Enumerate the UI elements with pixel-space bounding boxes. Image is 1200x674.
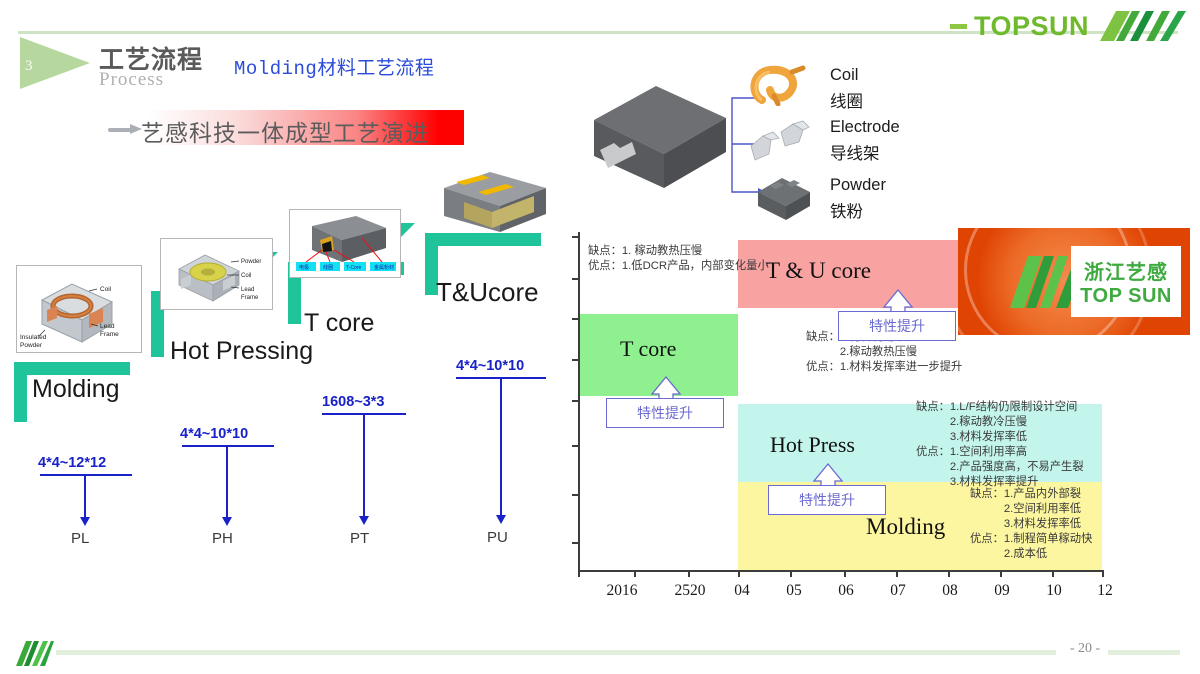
slide-root: 3 工艺流程 Process Molding材料工艺流程 艺感科技一体成型工艺演… (0, 0, 1200, 674)
code-label-ph: PH (212, 530, 233, 547)
thumbnail-t-core: 电极 线圈 T-Core 金属粉材 (289, 209, 401, 278)
chart-block-label-hot-press: Hot Press (770, 432, 855, 458)
arrow-right-icon (108, 124, 142, 134)
size-label-pl: 4*4~12*12 (38, 455, 106, 471)
badge-label-en: TOP SUN (1080, 285, 1172, 308)
svg-text:Lead: Lead (241, 287, 254, 293)
thumbnail-molding: Coil Lead Frame Insulated Powder (16, 265, 142, 353)
chart-note-hot-press: 缺点：1.L/F结构仍限制设计空间 2.稼动教冷压慢 3.材料发挥率低 优点：1… (916, 400, 1084, 489)
chart-xtick-7: 09 (994, 582, 1010, 600)
part-label-electrode-en: Electrode (830, 118, 900, 137)
powder-block-icon (752, 172, 816, 220)
topsun-logo: TOPSUN (950, 9, 1186, 43)
svg-text:电极: 电极 (299, 264, 309, 271)
badge-plate: 浙江艺感 TOP SUN (1071, 246, 1181, 317)
logo-dash-icon (950, 24, 967, 29)
chart-xtick-8: 10 (1046, 582, 1062, 600)
svg-text:Powder: Powder (20, 342, 43, 349)
part-label-powder-en: Powder (830, 176, 886, 195)
part-label-electrode-cn: 导线架 (830, 140, 880, 164)
svg-text:金属粉材: 金属粉材 (374, 264, 394, 271)
svg-text:Frame: Frame (241, 295, 259, 301)
chart-xtick-6: 08 (942, 582, 958, 600)
part-label-powder-cn: 铁粉 (830, 198, 863, 222)
upgrade-callout-2: 特性提升 (606, 398, 724, 428)
logo-text: TOPSUN (974, 11, 1089, 42)
stair-label-3: T core (304, 310, 374, 337)
size-annotation-ph: 4*4~10*10 PH (180, 426, 276, 544)
topsun-badge: 浙江艺感 TOP SUN (958, 228, 1190, 335)
product-render (586, 78, 734, 188)
evolution-banner: 艺感科技一体成型工艺演进 (148, 110, 464, 145)
code-label-pt: PT (350, 530, 369, 547)
chart-xtick-5: 07 (890, 582, 906, 600)
svg-text:Frame: Frame (100, 331, 119, 338)
upgrade-callout-1: 特性提升 (838, 311, 956, 341)
chart-note-top: 缺点：1. 稼动教热压慢 优点：1.低DCR产品，内部变化量小 (588, 244, 769, 274)
size-label-ph: 4*4~10*10 (180, 426, 248, 442)
part-label-coil-en: Coil (830, 66, 858, 85)
chart-note-molding: 缺点：1.产品内外部裂 2.空间利用率低 3.材料发挥率低 优点：1.制程简单稼… (970, 487, 1092, 562)
svg-text:T-Core: T-Core (346, 265, 362, 271)
svg-text:Coil: Coil (100, 286, 112, 293)
footer-logo-icon (14, 638, 54, 668)
size-label-pt: 1608~3*3 (322, 394, 385, 410)
upgrade-callout-3: 特性提升 (768, 485, 886, 515)
chart-xtick-3: 05 (786, 582, 802, 600)
page-number: - 20 - (1062, 641, 1108, 657)
part-label-coil-cn: 线圈 (830, 88, 863, 112)
svg-text:Coil: Coil (241, 273, 251, 279)
svg-text:Powder: Powder (241, 259, 261, 265)
page-subtitle: Molding材料工艺流程 (234, 53, 434, 80)
chart-x-axis (578, 570, 1102, 572)
thumbnail-hot-pressing: Powder Coil Lead Frame (160, 238, 273, 310)
chart-xtick-2: 04 (734, 582, 750, 600)
chart-xtick-9: 12 (1097, 582, 1113, 600)
size-annotation-pu: 4*4~10*10 PU (456, 358, 548, 544)
svg-text:Lead: Lead (100, 323, 115, 330)
electrode-icon (745, 118, 815, 164)
thumbnail-tu-core (434, 166, 554, 238)
size-annotation-pt: 1608~3*3 PT (322, 394, 406, 544)
footer-rule-right (1108, 650, 1180, 655)
size-annotation-pl: 4*4~12*12 PL (38, 455, 134, 545)
page-title-en: Process (99, 69, 164, 91)
evolution-banner-label: 艺感科技一体成型工艺演进 (141, 114, 429, 148)
header-step-number: 3 (25, 58, 33, 75)
stair-label-4: T&Ucore (436, 278, 539, 306)
svg-text:线圈: 线圈 (323, 264, 333, 271)
code-label-pl: PL (71, 530, 89, 547)
stair-label-2: Hot Pressing (170, 338, 313, 365)
logo-mark-icon (1094, 9, 1186, 43)
footer-rule-left (56, 650, 1056, 655)
chart-xtick-0: 2016 (607, 582, 638, 600)
size-label-pu: 4*4~10*10 (456, 358, 524, 374)
chart-block-label-tu-core: T & U core (766, 258, 871, 284)
coil-icon (748, 60, 810, 106)
code-label-pu: PU (487, 529, 508, 546)
chart-xtick-1: 2520 (675, 582, 706, 600)
badge-label-cn: 浙江艺感 (1084, 256, 1168, 285)
chart-block-label-molding: Molding (866, 514, 945, 540)
svg-text:Insulated: Insulated (20, 334, 47, 341)
stair-label-1: Molding (32, 376, 120, 403)
chart-y-axis (578, 232, 580, 572)
chart-xtick-4: 06 (838, 582, 854, 600)
chart-block-label-t-core: T core (620, 336, 676, 362)
